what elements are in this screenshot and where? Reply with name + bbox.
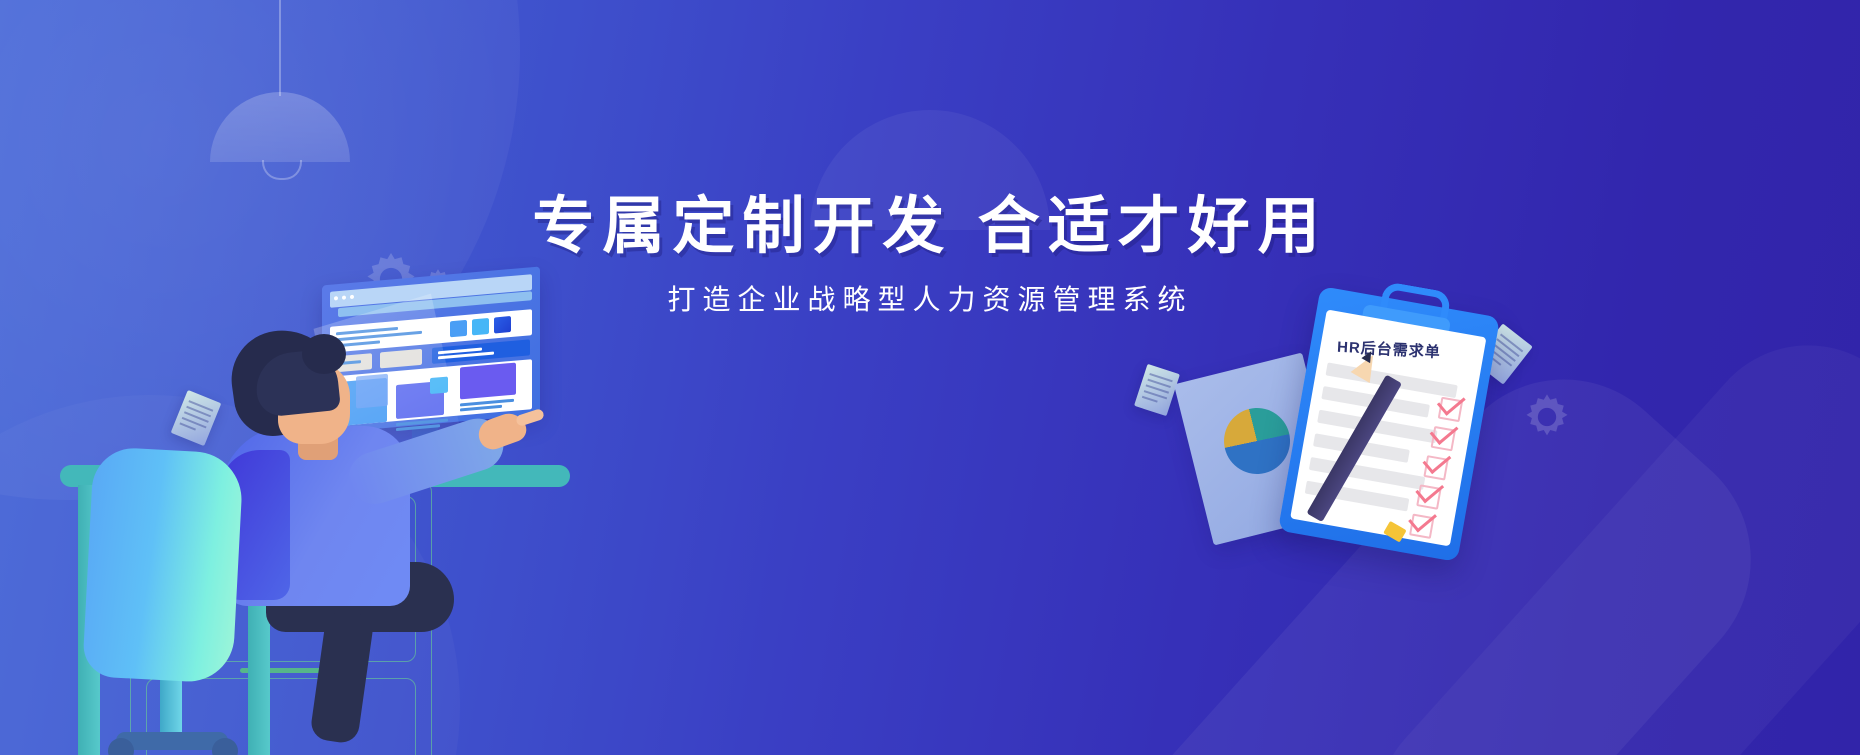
hanging-lamp-icon	[210, 0, 350, 180]
lamp-dome	[210, 92, 350, 162]
dashboard-chip	[494, 316, 511, 333]
document-icon	[1134, 364, 1180, 416]
person-figure	[210, 330, 480, 630]
chair-backrest	[82, 446, 244, 684]
person-hair-bun	[302, 334, 346, 374]
hero-banner: 专属定制开发 合适才好用 打造企业战略型人力资源管理系统	[0, 0, 1860, 755]
clipboard-title: HR后台需求单	[1337, 336, 1468, 364]
pie-chart	[1217, 401, 1297, 481]
lamp-bulb-glow	[262, 160, 302, 180]
background-quarter-dome	[810, 110, 1050, 230]
illustration-clipboard-scene: HR后台需求单	[1180, 300, 1640, 630]
illustration-desk-scene	[60, 300, 700, 755]
clipboard: HR后台需求单	[1278, 286, 1500, 562]
lamp-cord	[279, 0, 281, 96]
